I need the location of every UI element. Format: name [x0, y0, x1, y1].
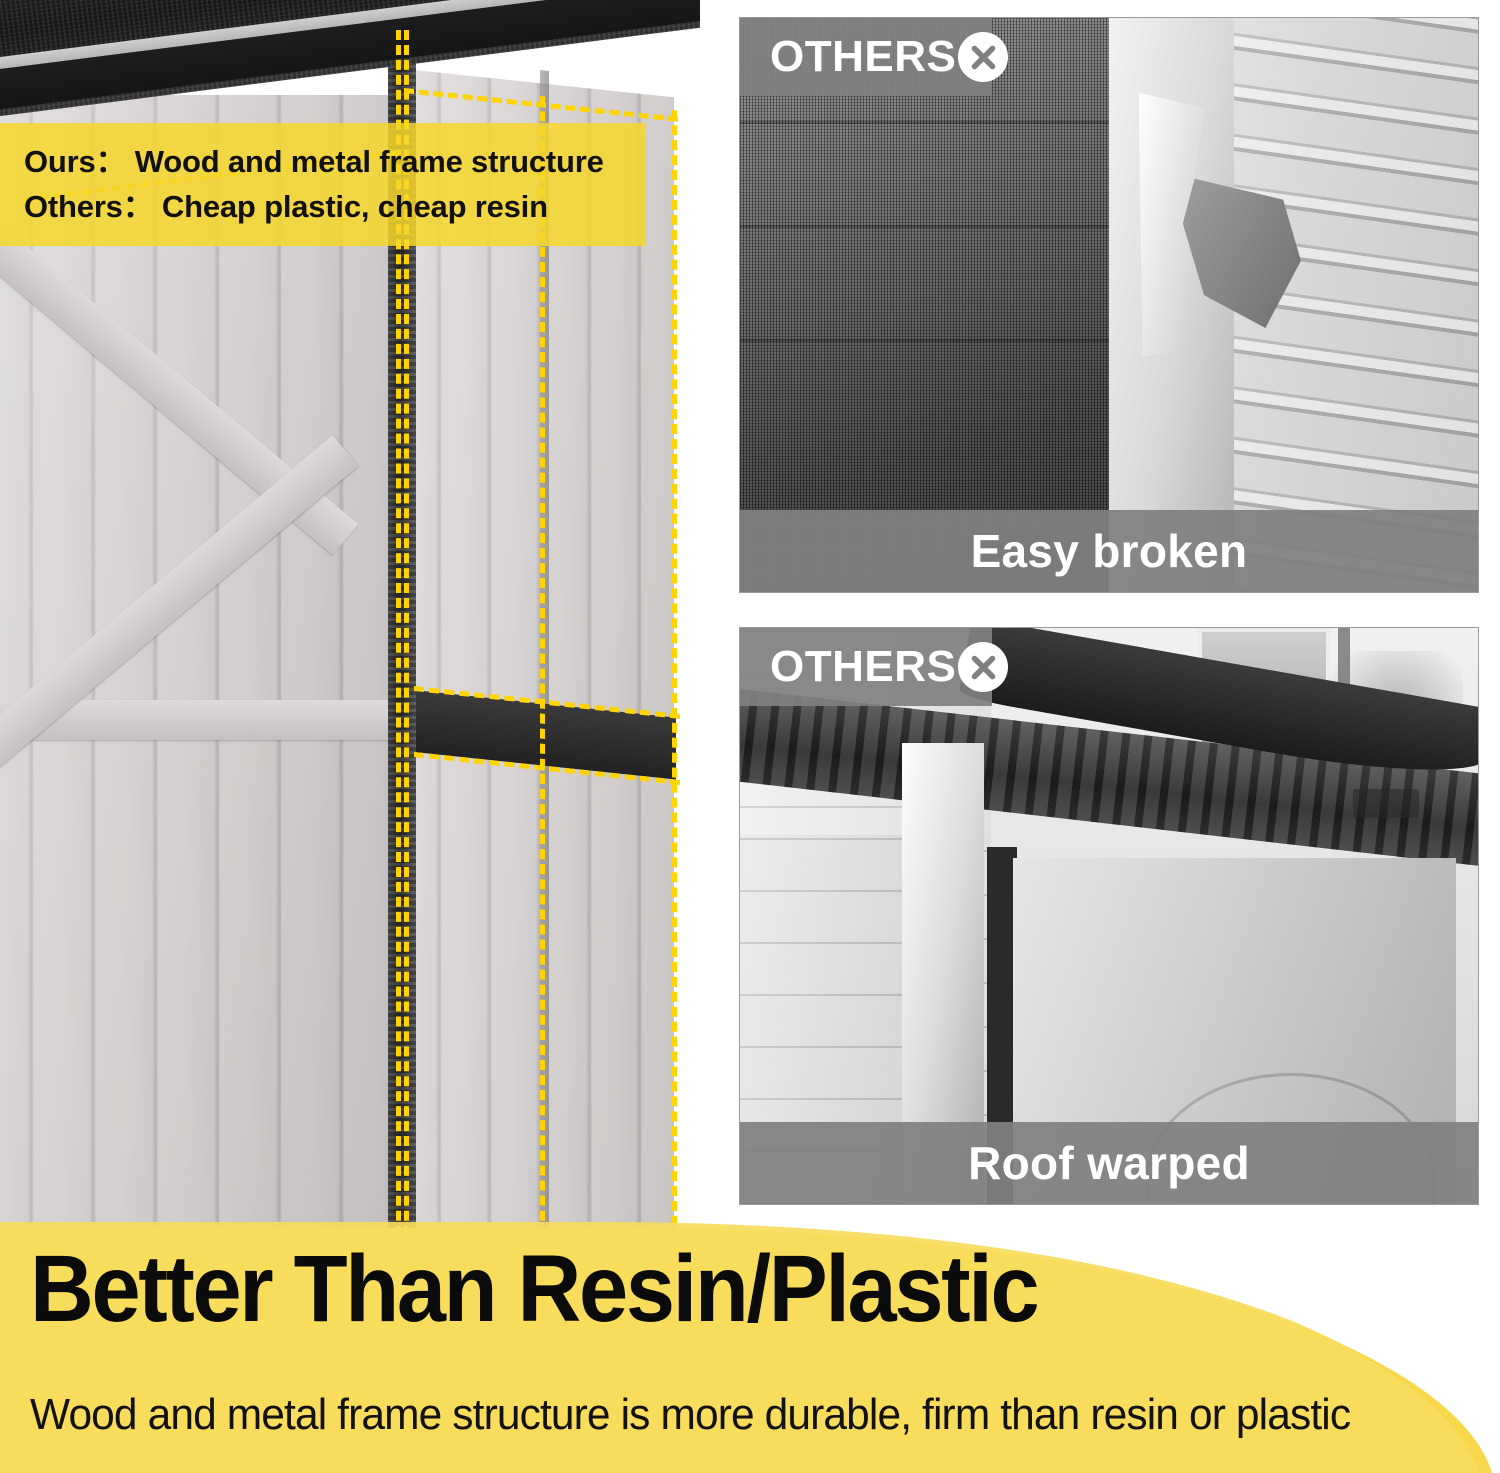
ours-vs-others-callout: Ours： Wood and metal frame structure Oth… [0, 123, 646, 246]
caption-bar-bottom: Roof warped [740, 1122, 1478, 1204]
caption-text: Easy broken [971, 524, 1248, 578]
bottom-banner: Better Than Resin/Plastic Wood and metal… [0, 1216, 1500, 1473]
others-photo-roof-warped: OTHERS Roof warped [740, 628, 1478, 1204]
others-badge-bottom: OTHERS [740, 628, 992, 706]
others-photo-easy-broken: OTHERS Easy broken [740, 18, 1478, 592]
caption-bar-top: Easy broken [740, 510, 1478, 592]
others-label: OTHERS [770, 642, 956, 692]
banner-headline: Better Than Resin/Plastic [30, 1242, 1369, 1337]
banner-subline: Wood and metal frame structure is more d… [30, 1390, 1420, 1440]
callout-others-line: Others： Cheap plastic, cheap resin [24, 185, 646, 230]
infographic-canvas: Ours： Wood and metal frame structure Oth… [0, 0, 1500, 1473]
brand-logo-plate [1353, 789, 1419, 818]
others-label: OTHERS [770, 32, 956, 82]
caption-text: Roof warped [968, 1136, 1250, 1190]
callout-ours-line: Ours： Wood and metal frame structure [24, 140, 646, 185]
others-badge-top: OTHERS [740, 18, 992, 96]
